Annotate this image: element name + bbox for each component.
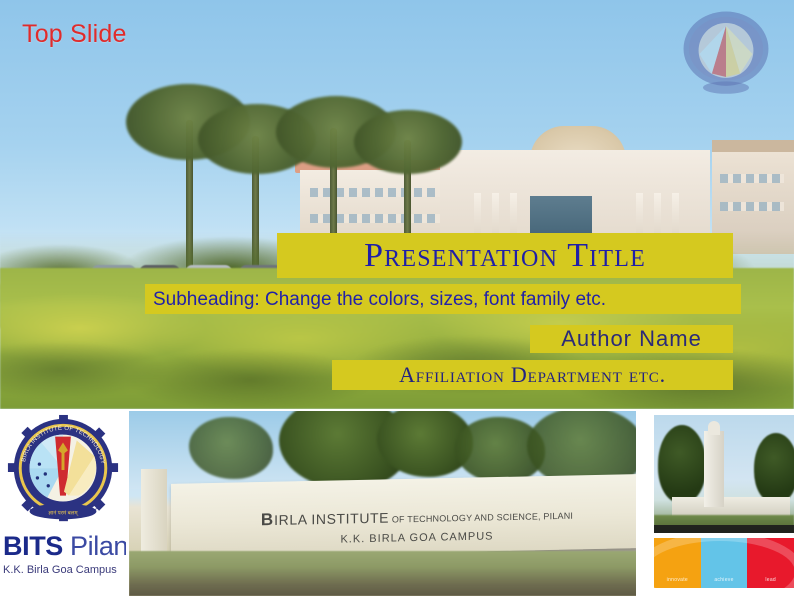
achieve-block: achieve xyxy=(701,538,748,588)
tree xyxy=(658,425,706,503)
panel-divider xyxy=(636,411,639,596)
bits-wordmark-line: BITS Pilani xyxy=(3,531,127,562)
clock-tower-panel: innovate achieve lead xyxy=(640,411,794,596)
achieve-label: achieve xyxy=(714,577,733,583)
sign-word-irla: IRLA xyxy=(274,511,307,528)
sign-word-nstitute: NSTITUTE xyxy=(316,510,389,528)
bits-pilani-branding-panel: BIRLA INSTITUTE OF TECHNOLOGY & SCIENCE,… xyxy=(0,411,127,596)
bottom-image-strip: BIRLA INSTITUTE OF TECHNOLOGY & SCIENCE,… xyxy=(0,411,794,596)
sign-tail: OF TECHNOLOGY AND SCIENCE, PILANI xyxy=(389,511,573,525)
palm-tree-crown xyxy=(354,110,462,174)
campus-subtitle: K.K. Birla Goa Campus xyxy=(3,564,127,576)
innovate-label: innovate xyxy=(667,577,688,583)
innovate-block: innovate xyxy=(654,538,701,588)
bits-wordmark: BITS Pilani K.K. Birla Goa Campus xyxy=(3,531,127,576)
top-slide-label: Top Slide xyxy=(22,20,127,49)
campus-entrance-photo: BIRLA INSTITUTE OF TECHNOLOGY AND SCIENC… xyxy=(129,411,637,596)
innovate-achieve-lead-bar: innovate achieve lead xyxy=(654,538,794,588)
presentation-title: Presentation Title xyxy=(277,233,733,278)
presentation-subheading: Subheading: Change the colors, sizes, fo… xyxy=(145,284,741,314)
clock-tower-photo xyxy=(654,415,794,533)
clock-tower-cupola xyxy=(708,421,720,435)
ground xyxy=(129,551,637,596)
hero-campus-photo: Top Slide Presentation Title Subheading:… xyxy=(0,0,794,409)
tree xyxy=(754,433,794,503)
presentation-slide: Top Slide Presentation Title Subheading:… xyxy=(0,0,794,596)
bits-crest-watermark-icon xyxy=(672,8,780,100)
sign-space-i: I xyxy=(307,511,316,527)
bits-crest-icon: BIRLA INSTITUTE OF TECHNOLOGY & SCIENCE,… xyxy=(4,413,122,531)
affiliation-department: Affiliation Department etc. xyxy=(332,360,733,390)
crest-motto: ज्ञानं परमं बलम् xyxy=(48,509,78,516)
tree xyxy=(189,417,273,479)
bits-wordmark-light: Pilani xyxy=(63,531,127,561)
window-strip xyxy=(720,202,784,211)
lead-block: lead xyxy=(747,538,794,588)
sign-initial: B xyxy=(261,510,274,529)
bits-wordmark-bold: BITS xyxy=(3,531,63,561)
lead-label: lead xyxy=(765,577,776,583)
window-strip xyxy=(720,174,784,183)
clock-tower xyxy=(704,431,724,507)
foreground-shadow xyxy=(654,525,794,533)
author-name: Author Name xyxy=(530,325,733,353)
